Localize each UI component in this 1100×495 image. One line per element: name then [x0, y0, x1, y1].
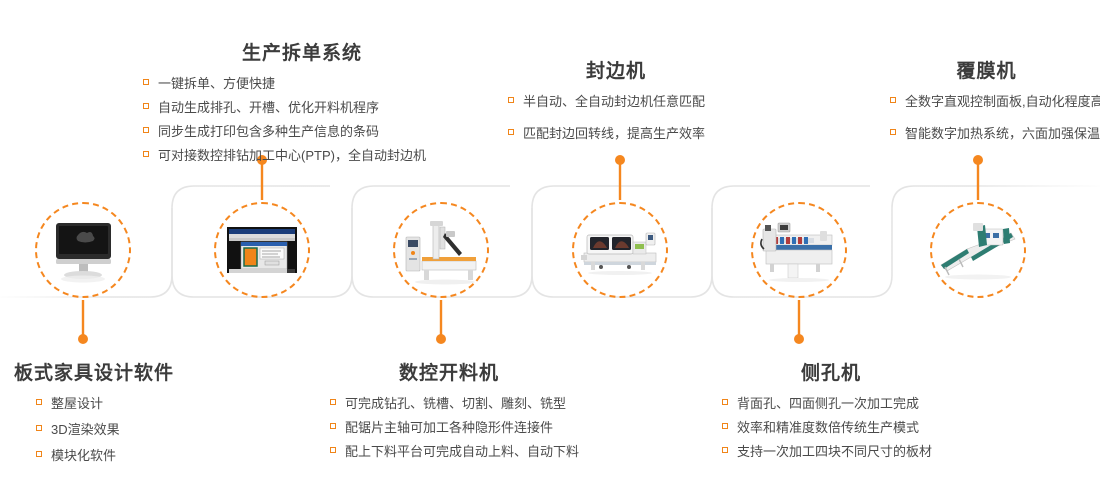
- software-screen-icon: [221, 215, 303, 285]
- block-title: 板式家具设计软件: [14, 358, 174, 385]
- list-item: 3D渲染效果: [36, 421, 174, 440]
- block-title: 生产拆单系统: [137, 38, 467, 65]
- edge-bander-icon: [579, 215, 661, 285]
- node-laminating[interactable]: [930, 202, 1026, 298]
- list-item: 智能数字加热系统，六面加强保温: [890, 125, 1100, 144]
- bullet-list: 半自动、全自动封边机任意匹配 匹配封边回转线，提高生产效率: [508, 93, 730, 144]
- node-design-software[interactable]: [35, 202, 131, 298]
- list-item: 配上下料平台可完成自动上料、自动下料: [330, 443, 579, 462]
- list-item: 全数字直观控制面板,自动化程度高: [890, 93, 1100, 112]
- connector-edge-banding: [615, 155, 625, 200]
- bullet-list: 整屋设计 3D渲染效果 模块化软件: [14, 395, 174, 466]
- imac-monitor-icon: [42, 215, 124, 285]
- connector-cnc-cutting: [436, 300, 446, 344]
- bullet-list: 一键拆单、方便快捷 自动生成排孔、开槽、优化开料机程序 同步生成打印包含多种生产…: [143, 75, 467, 165]
- list-item: 整屋设计: [36, 395, 174, 414]
- node-edge-banding[interactable]: [572, 202, 668, 298]
- connector-design-software: [78, 300, 88, 344]
- bullet-list: 可完成钻孔、铣槽、切割、雕刻、铣型 配锯片主轴可加工各种隐形件连接件 配上下料平…: [330, 395, 579, 462]
- block-title: 覆膜机: [884, 56, 1089, 83]
- bullet-list: 背面孔、四面侧孔一次加工完成 效率和精准度数倍传统生产模式 支持一次加工四块不同…: [722, 395, 946, 462]
- list-item: 可对接数控排钻加工中心(PTP)，全自动封边机: [143, 147, 467, 166]
- connector-laminating: [973, 155, 983, 200]
- side-drill-icon: [758, 215, 840, 285]
- connector-side-hole: [794, 300, 804, 344]
- block-laminating: 覆膜机 全数字直观控制面板,自动化程度高 智能数字加热系统，六面加强保温: [890, 56, 1100, 157]
- list-item: 同步生成打印包含多种生产信息的条码: [143, 123, 467, 142]
- block-side-hole: 侧孔机 背面孔、四面侧孔一次加工完成 效率和精准度数倍传统生产模式 支持一次加工…: [722, 358, 946, 467]
- node-side-hole[interactable]: [751, 202, 847, 298]
- list-item: 匹配封边回转线，提高生产效率: [508, 125, 730, 144]
- process-flow-infographic: 板式家具设计软件 整屋设计 3D渲染效果 模块化软件 生产拆单系统 一键拆单、方…: [0, 0, 1100, 495]
- list-item: 支持一次加工四块不同尺寸的板材: [722, 443, 946, 462]
- block-order-splitting: 生产拆单系统 一键拆单、方便快捷 自动生成排孔、开槽、优化开料机程序 同步生成打…: [143, 38, 467, 170]
- cnc-router-icon: [400, 215, 482, 285]
- bullet-list: 全数字直观控制面板,自动化程度高 智能数字加热系统，六面加强保温: [890, 93, 1100, 144]
- list-item: 配锯片主轴可加工各种隐形件连接件: [330, 419, 579, 438]
- node-cnc-cutting[interactable]: [393, 202, 489, 298]
- list-item: 效率和精准度数倍传统生产模式: [722, 419, 946, 438]
- node-order-splitting[interactable]: [214, 202, 310, 298]
- list-item: 一键拆单、方便快捷: [143, 75, 467, 94]
- list-item: 可完成钻孔、铣槽、切割、雕刻、铣型: [330, 395, 579, 414]
- block-design-software: 板式家具设计软件 整屋设计 3D渲染效果 模块化软件: [14, 358, 174, 473]
- list-item: 自动生成排孔、开槽、优化开料机程序: [143, 99, 467, 118]
- block-title: 数控开料机: [324, 358, 574, 385]
- block-edge-banding: 封边机 半自动、全自动封边机任意匹配 匹配封边回转线，提高生产效率: [508, 56, 730, 157]
- list-item: 模块化软件: [36, 447, 174, 466]
- list-item: 背面孔、四面侧孔一次加工完成: [722, 395, 946, 414]
- list-item: 半自动、全自动封边机任意匹配: [508, 93, 730, 112]
- block-title: 侧孔机: [716, 358, 946, 385]
- block-title: 封边机: [502, 56, 730, 83]
- block-cnc-cutting: 数控开料机 可完成钻孔、铣槽、切割、雕刻、铣型 配锯片主轴可加工各种隐形件连接件…: [330, 358, 579, 467]
- laminator-icon: [937, 215, 1019, 285]
